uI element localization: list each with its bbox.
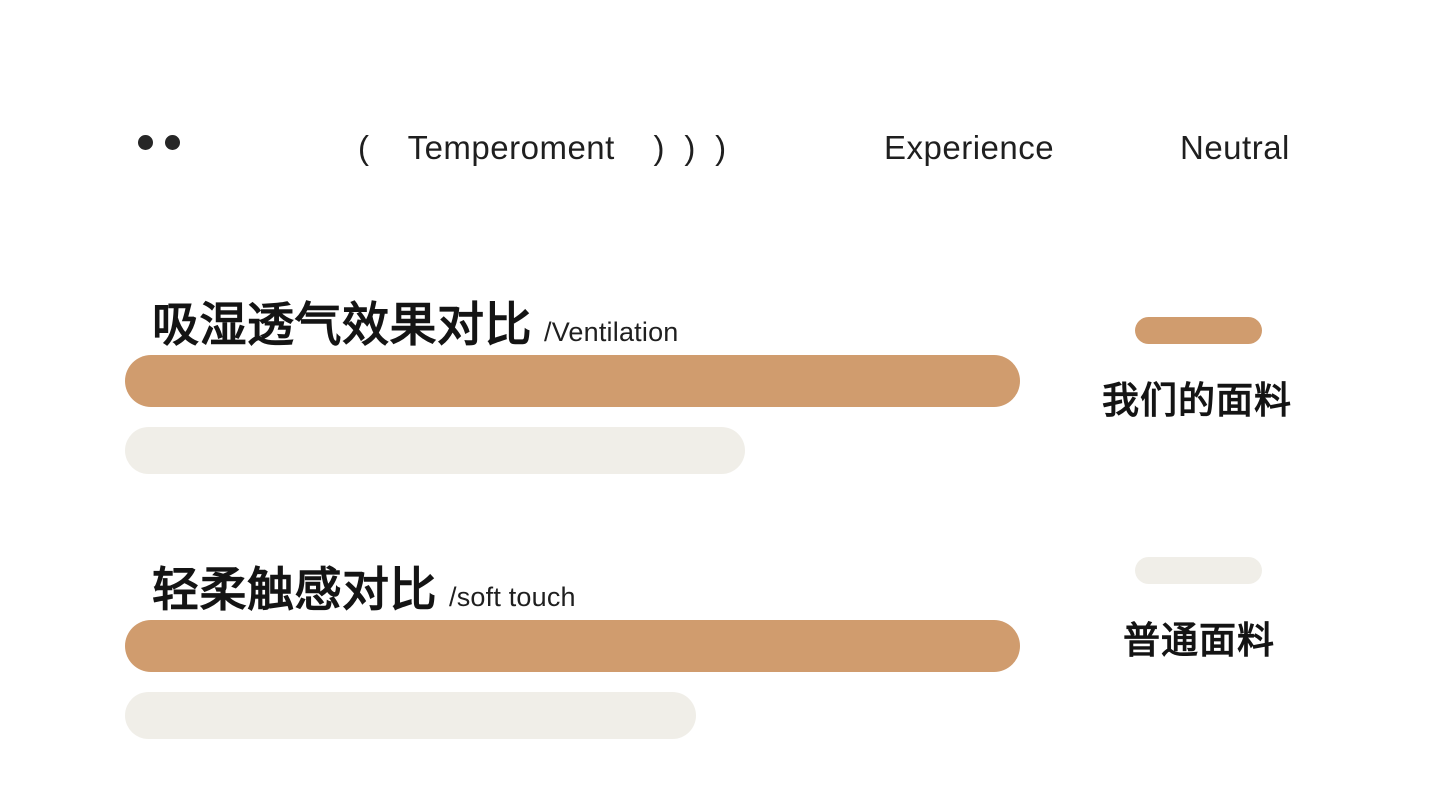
header-item-temperoment: ( Temperoment ) ) )	[358, 118, 727, 178]
header-item-neutral: Neutral	[1180, 118, 1290, 178]
header-item-experience: Experience	[884, 118, 1054, 178]
legend-label: 我们的面料	[1102, 370, 1365, 424]
section-title: 轻柔触感对比 /soft touch	[152, 551, 576, 620]
legend-swatch-icon	[1135, 317, 1262, 344]
section-title-cn: 轻柔触感对比	[152, 551, 437, 620]
bar-plain	[125, 692, 696, 739]
header-bar: ( Temperoment ) ) ) Experience Neutral	[0, 118, 1440, 178]
dot-indicator-group	[138, 135, 180, 150]
legend-item-ours: 我们的面料	[1135, 317, 1365, 424]
dot-icon	[165, 135, 180, 150]
section-title-en: /soft touch	[449, 582, 576, 613]
slide-canvas: ( Temperoment ) ) ) Experience Neutral 吸…	[0, 0, 1440, 808]
bar-row	[0, 692, 1440, 744]
bar-plain	[125, 427, 745, 474]
bar-ours	[125, 620, 1020, 672]
section-title-cn: 吸湿透气效果对比	[152, 286, 532, 355]
bar-row	[0, 427, 1440, 479]
legend-item-plain: 普通面料	[1135, 557, 1365, 664]
bar-ours	[125, 355, 1020, 407]
section-title: 吸湿透气效果对比 /Ventilation	[152, 286, 679, 355]
legend-label: 普通面料	[1123, 610, 1365, 664]
dot-icon	[138, 135, 153, 150]
legend-swatch-icon	[1135, 557, 1262, 584]
section-title-en: /Ventilation	[544, 317, 679, 348]
